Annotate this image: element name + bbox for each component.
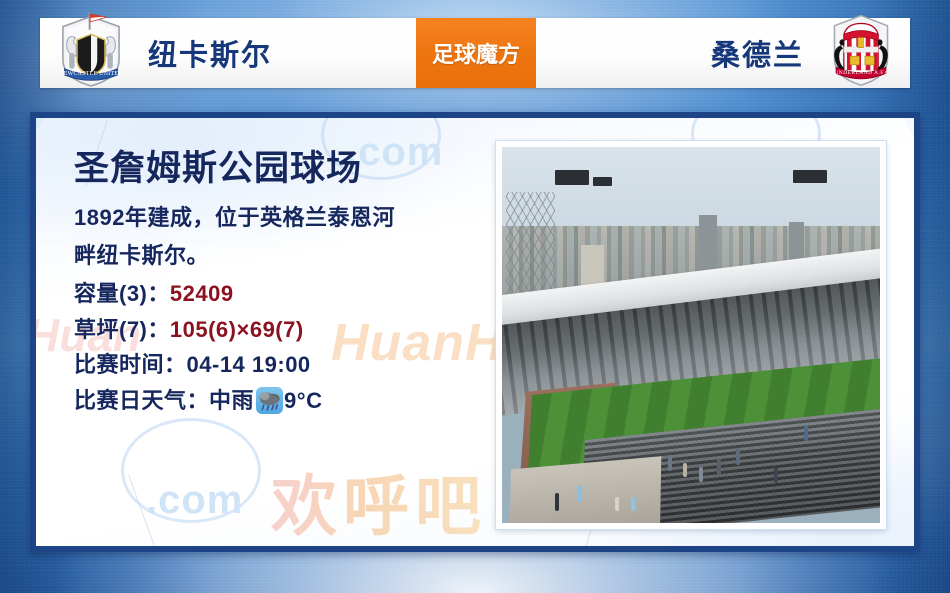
photo-spectator <box>668 455 672 471</box>
match-header-bar: NEWCASTLE UNITED 纽卡斯尔 足球魔方 桑德兰 <box>40 18 910 88</box>
photo-spectator <box>631 497 635 511</box>
photo-building <box>581 245 604 286</box>
match-time-value: 04-14 19:00 <box>187 347 311 383</box>
weather-temperature: 9°C <box>284 383 322 419</box>
site-logo[interactable]: 足球魔方 <box>416 18 536 88</box>
photo-spectator <box>578 485 582 502</box>
st-james-park-stadium-photo: NEWCASTLE UNITED <box>502 147 880 523</box>
svg-text:SUNDERLAND A.F.C.: SUNDERLAND A.F.C. <box>831 70 891 76</box>
photo-spectator <box>555 493 559 511</box>
rain-cloud-icon <box>256 387 283 414</box>
photo-floodlight-box <box>555 170 589 185</box>
photo-floodlight-box <box>793 170 827 184</box>
away-team-block[interactable]: 桑德兰 SUNDERLAND A.F.C. <box>536 14 910 92</box>
weather-label: 比赛日天气： <box>74 383 209 419</box>
svg-text:NEWCASTLE UNITED: NEWCASTLE UNITED <box>59 71 123 77</box>
capacity-label: 容量(3)： <box>74 276 170 312</box>
pitch-label: 草坪(7)： <box>74 312 170 348</box>
photo-floodlight-box <box>593 177 612 186</box>
photo-spectator <box>774 467 778 483</box>
capacity-value: 52409 <box>170 276 234 312</box>
watermark-cloud-shape <box>121 418 261 523</box>
match-time-row: 比赛时间： 04-14 19:00 <box>74 347 474 383</box>
watermark-brand-cn: 欢呼吧 <box>271 453 487 546</box>
stadium-title: 圣詹姆斯公园球场 <box>74 148 474 189</box>
stadium-info-card: .com .com .com HuanHuBa Huan 欢呼吧 圣詹姆斯公园球… <box>30 112 920 552</box>
photo-spectator <box>699 467 703 482</box>
watermark-com-bottom: .com <box>146 478 243 523</box>
photo-spectator <box>683 463 687 477</box>
match-time-label: 比赛时间： <box>74 347 187 383</box>
photo-spectator <box>717 459 721 475</box>
pitch-value: 105(6)×69(7) <box>170 312 304 348</box>
stadium-description-line1: 1892年建成，位于英格兰泰恩河 <box>74 201 474 234</box>
stadium-info-panel: 圣詹姆斯公园球场 1892年建成，位于英格兰泰恩河 畔纽卡斯尔。 容量(3)： … <box>74 148 474 419</box>
newcastle-united-crest-icon: NEWCASTLE UNITED <box>52 11 130 89</box>
photo-highrise <box>699 215 718 275</box>
stadium-photo-frame[interactable]: NEWCASTLE UNITED <box>496 141 886 529</box>
away-team-name: 桑德兰 <box>711 32 804 74</box>
site-logo-text: 足球魔方 <box>432 37 520 69</box>
stadium-description-line2: 畔纽卡斯尔。 <box>74 239 474 272</box>
pitch-row: 草坪(7)： 105(6)×69(7) <box>74 312 474 348</box>
home-team-block[interactable]: NEWCASTLE UNITED 纽卡斯尔 <box>40 14 416 92</box>
capacity-row: 容量(3)： 52409 <box>74 276 474 312</box>
sunderland-afc-crest-icon: SUNDERLAND A.F.C. <box>822 11 900 89</box>
weather-condition: 中雨 <box>209 383 254 419</box>
photo-spectator <box>804 425 808 441</box>
weather-row: 比赛日天气： 中雨 <box>74 383 474 419</box>
photo-spectator <box>736 448 740 465</box>
photo-spectator <box>615 497 619 511</box>
home-team-name: 纽卡斯尔 <box>148 32 272 74</box>
card-inner-surface: .com .com .com HuanHuBa Huan 欢呼吧 圣詹姆斯公园球… <box>36 118 914 546</box>
card-facet-line <box>128 475 155 546</box>
